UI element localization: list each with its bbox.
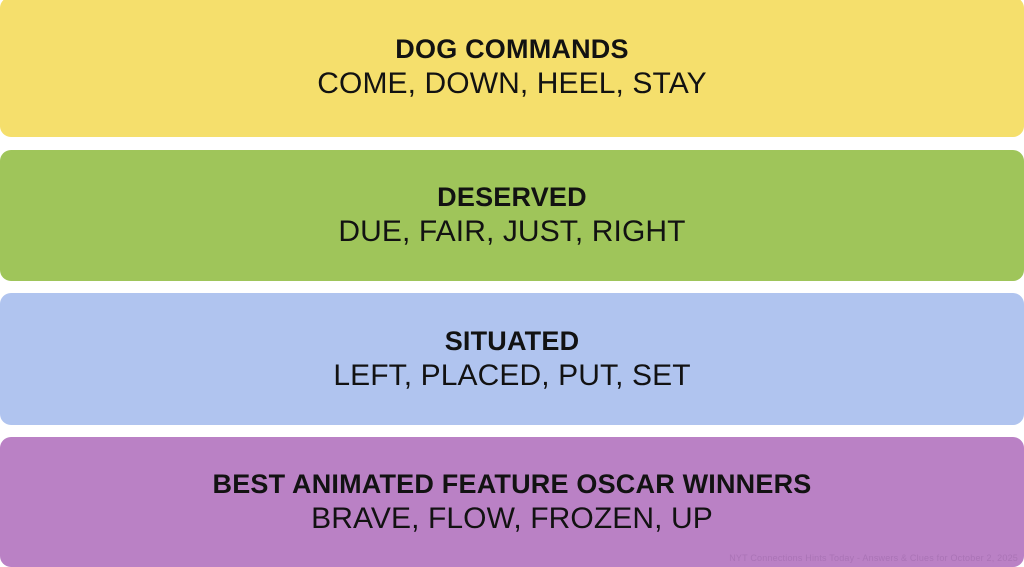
category-band-yellow[interactable]: DOG COMMANDS COME, DOWN, HEEL, STAY bbox=[0, 0, 1024, 137]
category-title: BEST ANIMATED FEATURE OSCAR WINNERS bbox=[213, 469, 812, 499]
category-band-blue[interactable]: SITUATED LEFT, PLACED, PUT, SET bbox=[0, 293, 1024, 425]
category-band-purple[interactable]: BEST ANIMATED FEATURE OSCAR WINNERS BRAV… bbox=[0, 437, 1024, 567]
category-words: BRAVE, FLOW, FROZEN, UP bbox=[311, 502, 713, 536]
category-title: SITUATED bbox=[445, 326, 580, 356]
category-words: LEFT, PLACED, PUT, SET bbox=[333, 359, 690, 393]
category-words: DUE, FAIR, JUST, RIGHT bbox=[338, 215, 685, 249]
category-title: DOG COMMANDS bbox=[395, 34, 628, 64]
category-words: COME, DOWN, HEEL, STAY bbox=[317, 67, 706, 101]
category-band-green[interactable]: DESERVED DUE, FAIR, JUST, RIGHT bbox=[0, 150, 1024, 281]
category-title: DESERVED bbox=[437, 182, 587, 212]
connections-answer-board: DOG COMMANDS COME, DOWN, HEEL, STAY DESE… bbox=[0, 0, 1024, 564]
